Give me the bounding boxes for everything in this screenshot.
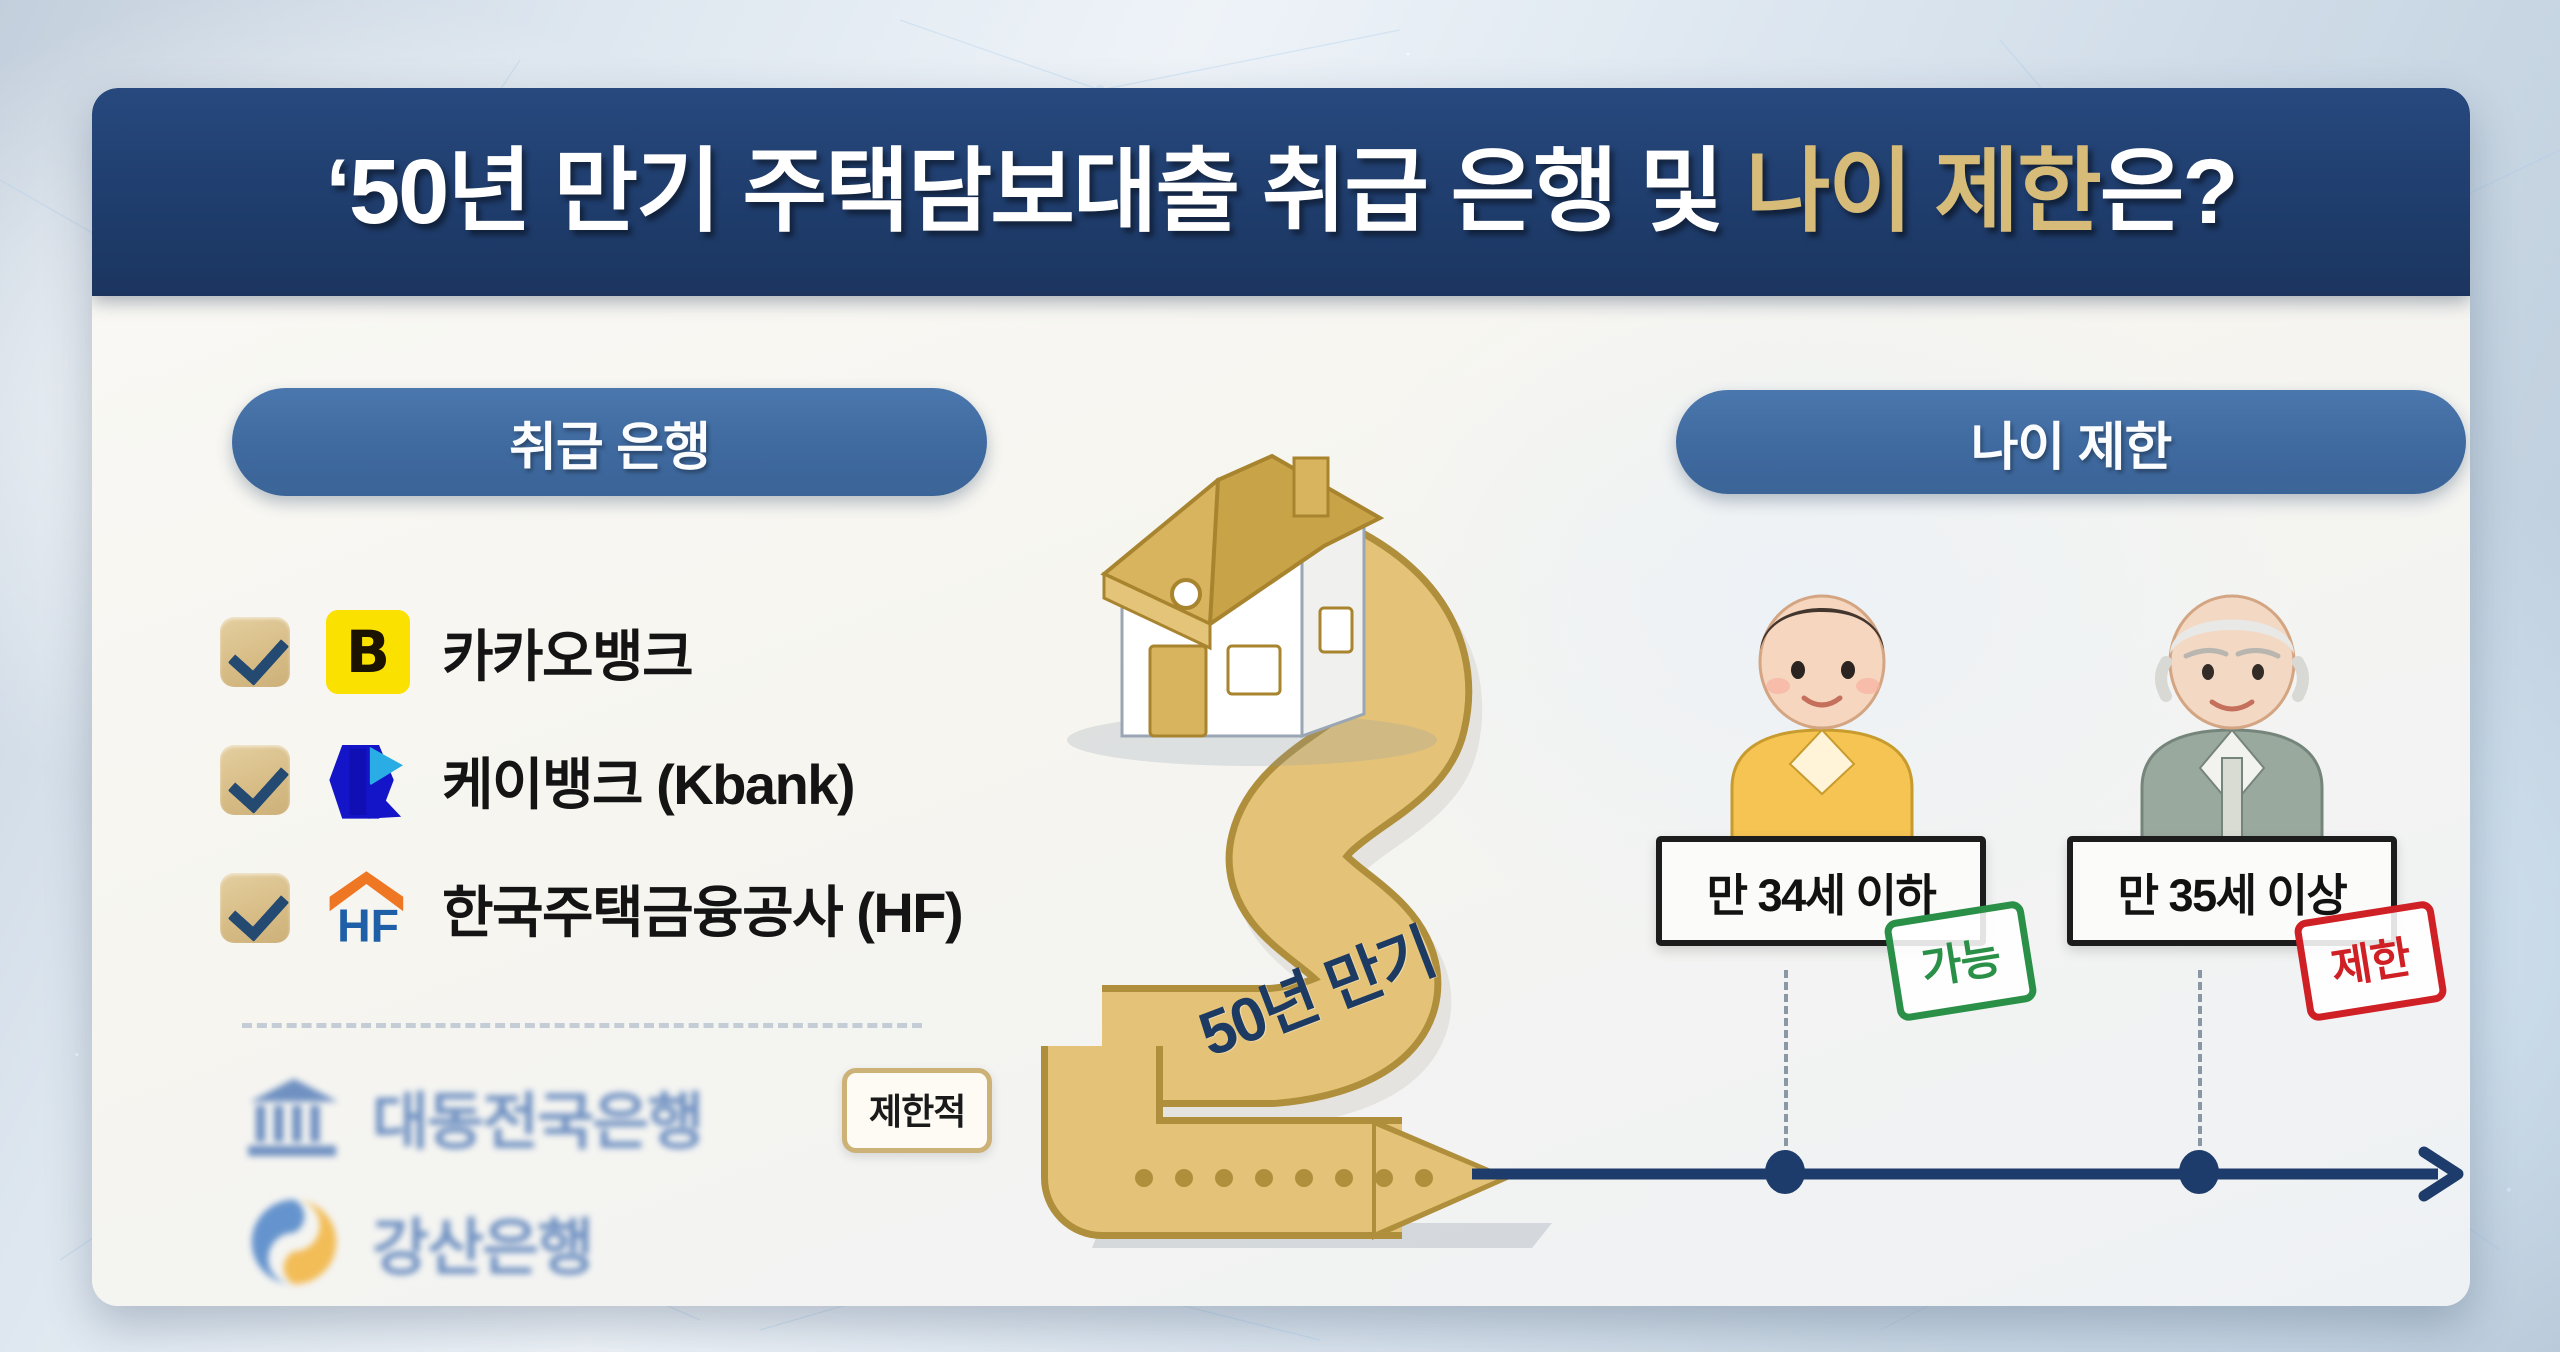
list-divider xyxy=(242,1023,922,1028)
timeline-marker-old xyxy=(2179,1150,2219,1194)
section-header-banks: 취급 은행 xyxy=(232,388,987,496)
kakaobank-logo: B xyxy=(320,606,416,698)
checkmark-icon xyxy=(220,745,290,815)
page-title: ‘50년 만기 주택담보대출 취급 은행 및 나이 제한은? xyxy=(325,146,2236,238)
title-tail-text: 은? xyxy=(2100,141,2237,243)
limited-bank-name: 강산은행 xyxy=(372,1197,592,1287)
swirl-glyph xyxy=(248,1196,340,1288)
infographic-card: ‘50년 만기 주택담보대출 취급 은행 및 나이 제한은? 취급 은행 나이 … xyxy=(92,88,2470,1306)
kbank-logo xyxy=(320,734,416,826)
title-highlight-text: 나이 제한 xyxy=(1746,141,2100,243)
kbank-logo-mark xyxy=(322,734,414,826)
checkmark-icon xyxy=(220,617,290,687)
bank-name-label: 케이뱅크 (Kbank) xyxy=(442,740,854,821)
sign-age-under-text: 만 34세 이하 xyxy=(1707,859,1936,924)
status-badge-limited: 제한적 xyxy=(842,1068,992,1153)
section-header-banks-label: 취급 은행 xyxy=(509,405,710,480)
timeline-marker-young xyxy=(1765,1150,1805,1194)
bank-name-label: 카카오뱅크 xyxy=(442,612,692,693)
bank-building-glyph xyxy=(246,1073,342,1159)
bank-building-icon xyxy=(242,1070,346,1162)
connector-line-young xyxy=(1784,970,1788,1158)
stamp-restricted: 제한 xyxy=(2293,900,2448,1023)
hf-logo-mark: HF xyxy=(320,862,416,954)
svg-text:HF: HF xyxy=(337,900,399,952)
connector-line-old xyxy=(2198,970,2202,1158)
limited-bank-name: 대동전국은행 xyxy=(372,1071,702,1161)
title-main-text: ‘50년 만기 주택담보대출 취급 은행 및 xyxy=(325,141,1745,243)
kakaobank-logo-mark: B xyxy=(326,610,410,694)
timeline-arrow-icon xyxy=(1472,1144,2470,1204)
section-header-age-limit: 나이 제한 xyxy=(1676,390,2466,494)
stamp-allowed: 가능 xyxy=(1883,900,2038,1023)
checkmark-icon xyxy=(220,873,290,943)
bank-name-label: 한국주택금융공사 (HF) xyxy=(442,868,962,949)
section-header-age-limit-label: 나이 제한 xyxy=(1971,405,2172,480)
hf-logo: HF xyxy=(320,862,416,954)
header-bar: ‘50년 만기 주택담보대출 취급 은행 및 나이 제한은? xyxy=(92,88,2470,296)
sign-age-over-text: 만 35세 이상 xyxy=(2118,859,2347,924)
age-limit-panel: 만 34세 이하 만 35세 이상 가능 제한 xyxy=(1652,558,2470,1258)
circle-swirl-icon xyxy=(242,1196,346,1288)
house-icon xyxy=(1104,456,1380,736)
